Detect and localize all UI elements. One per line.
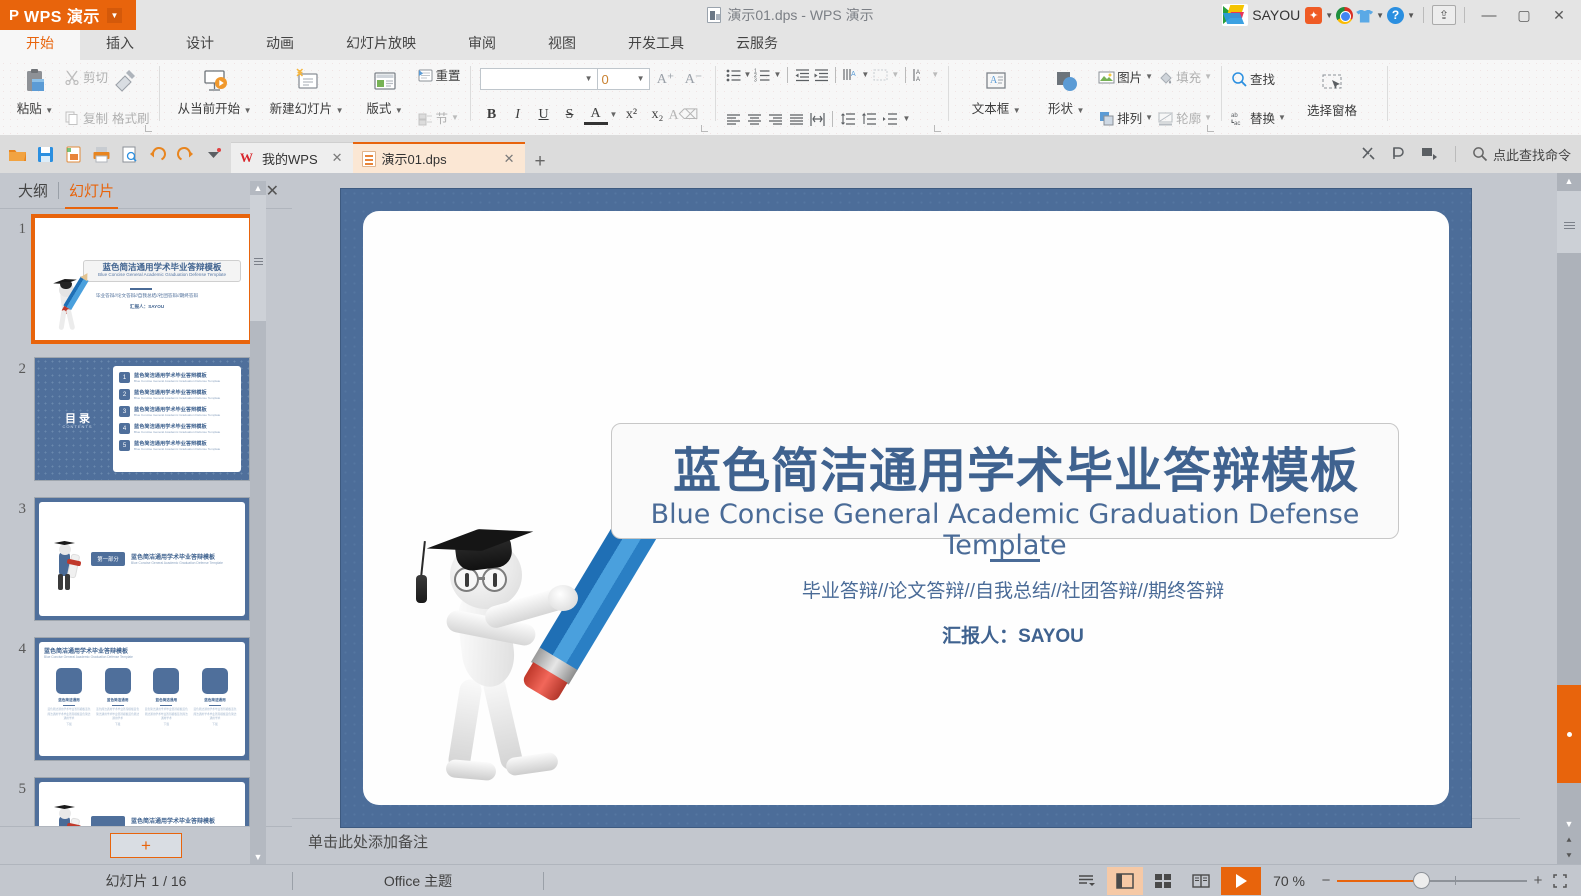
divider <box>1464 7 1465 23</box>
wps-logo-icon: P <box>9 8 19 23</box>
shapes-icon <box>1052 67 1080 95</box>
editing-small-buttons: 查找 abac 替换 ▼ <box>1231 63 1286 135</box>
indent-settings-icon[interactable] <box>882 111 898 127</box>
document-tab-my-wps[interactable]: W 我的WPS ✕ <box>231 142 353 173</box>
document-tab-label: 演示01.dps <box>382 149 447 168</box>
increase-indent-icon[interactable] <box>813 67 829 83</box>
right-scroll-area: ▲ ▼ ⯅ ⯆ <box>1520 173 1581 864</box>
from-current-slide-button[interactable]: 从当前开始 ▼ <box>169 63 261 135</box>
shapes-button[interactable]: 形状 ▼ <box>1034 63 1098 135</box>
layout-label: 版式 ▼ <box>366 98 402 117</box>
divider <box>832 111 833 127</box>
reading-view-icon[interactable] <box>1183 867 1219 895</box>
app-brand[interactable]: P WPS 演示 ▼ <box>0 0 136 30</box>
svg-text:A: A <box>916 70 920 76</box>
thumb-title-cn: 蓝色简洁通用学术毕业答辩模板 <box>44 646 128 655</box>
reset-button[interactable]: 重置 <box>417 65 461 84</box>
text-box-button[interactable]: A 文本框 ▼ <box>958 63 1034 135</box>
pen-icon[interactable] <box>1390 145 1409 164</box>
new-tab-button[interactable]: + <box>525 151 556 173</box>
divider <box>715 66 716 121</box>
close-tab-icon[interactable]: ✕ <box>504 151 515 167</box>
svg-text:A: A <box>916 77 920 83</box>
add-slide-button[interactable]: + <box>110 833 182 858</box>
underline-button[interactable]: U <box>532 103 556 127</box>
new-slide-icon <box>293 67 321 95</box>
reset-label: 重置 <box>436 65 461 84</box>
thumb-toc-heading-en: CONTENTS <box>55 424 100 429</box>
ribbon-toolbar: 粘贴 ▼ 剪切 <box>0 60 1581 135</box>
thumbnail-scrollbar[interactable]: ▲ ▼ <box>250 181 266 864</box>
picture-icon <box>1098 69 1114 85</box>
slide-canvas[interactable]: 蓝色简洁通用学术毕业答辩模板 Blue Concise General Acad… <box>363 211 1449 805</box>
account-name[interactable]: SAYOU <box>1252 7 1300 23</box>
fit-to-window-icon[interactable] <box>1549 870 1571 892</box>
theme-name: Office 主题 <box>293 871 543 891</box>
fill-icon <box>1157 69 1173 85</box>
drawing-dialog-launcher[interactable] <box>1207 125 1214 132</box>
ribbon-group-slides: 从当前开始 ▼ 新建幻灯片 ▼ <box>163 60 467 135</box>
reset-icon <box>417 67 433 83</box>
thumbnail-item[interactable]: 1 蓝色简洁通用学术毕业答辩模板 Blue Concise General Ac… <box>0 217 292 357</box>
customize-quick-access-icon[interactable] <box>204 145 223 164</box>
indent-chevron-down-icon[interactable]: ▼ <box>903 115 911 123</box>
thumbnail-item[interactable]: 2 目 录 CONTENTS 1蓝色简洁通用学术毕业答辩模板Blue Conci… <box>0 357 292 497</box>
selection-pane-button[interactable]: 选择窗格 <box>1286 63 1378 135</box>
drawing-small-buttons: 图片 ▼ 填充 ▼ 排列 ▼ <box>1098 63 1212 135</box>
arrange-label: 排列 <box>1117 108 1142 127</box>
paragraph-dialog-launcher[interactable] <box>934 125 941 132</box>
shirt-icon[interactable] <box>1356 8 1373 23</box>
divider <box>470 66 471 121</box>
picture-button[interactable]: 图片 ▼ <box>1098 67 1153 86</box>
divider <box>1455 146 1456 162</box>
cut-label: 剪切 <box>83 67 108 86</box>
thumbnail-slide-4[interactable]: 蓝色简洁通用学术毕业答辩模板 Blue Concise General Acad… <box>34 637 250 761</box>
panel-footer: + <box>0 826 292 864</box>
slide-title-cn[interactable]: 蓝色简洁通用学术毕业答辩模板 <box>641 431 1391 501</box>
chrome-icon[interactable] <box>1336 7 1353 24</box>
from-current-slide-label: 从当前开始 ▼ <box>178 98 252 117</box>
shapes-label: 形状 ▼ <box>1048 98 1084 117</box>
replace-icon: abac <box>1231 110 1247 126</box>
quick-access-toolbar <box>0 145 223 164</box>
title-bar: P WPS 演示 ▼ 演示01.dps - WPS 演示 SAYOU ✦ ▼ ▼… <box>0 0 1581 30</box>
wps-cloud-icon: W <box>240 151 256 165</box>
arrange-button[interactable]: 排列 ▼ <box>1098 108 1153 127</box>
divider <box>543 872 544 890</box>
align-text-icon[interactable] <box>872 67 888 83</box>
flame-icon[interactable]: ✦ <box>1305 7 1322 24</box>
ribbon-tab-developer[interactable]: 开发工具 <box>602 28 710 60</box>
divider <box>159 66 160 121</box>
outline-button[interactable]: 轮廓 ▼ <box>1157 108 1212 127</box>
print-icon[interactable] <box>92 145 111 164</box>
outline-label: 轮廓 <box>1176 108 1201 127</box>
ribbon-tab-review[interactable]: 审阅 <box>442 28 522 60</box>
app-brand-label: WPS 演示 <box>24 3 100 27</box>
zoom-in-button[interactable]: + <box>1529 872 1547 889</box>
ribbon-group-editing: 查找 abac 替换 ▼ 选择窗格 <box>1225 60 1384 135</box>
clipboard-dialog-launcher[interactable] <box>145 125 152 132</box>
thumbnail-number: 3 <box>12 497 34 518</box>
arrange-icon <box>1098 110 1114 126</box>
tools-icon[interactable] <box>1360 145 1379 164</box>
selection-pane-icon <box>1318 69 1346 97</box>
thumbnail-slide-2[interactable]: 目 录 CONTENTS 1蓝色简洁通用学术毕业答辩模板Blue Concise… <box>34 357 250 481</box>
slide-stage[interactable]: 蓝色简洁通用学术毕业答辩模板 Blue Concise General Acad… <box>292 173 1520 818</box>
window-icon[interactable] <box>1420 145 1439 164</box>
divider <box>835 67 836 83</box>
superscript-button[interactable]: x² <box>619 103 643 127</box>
thumb-title-en: Blue Concise General Academic Graduation… <box>44 655 133 659</box>
slide-counter: 幻灯片 1 / 16 <box>0 871 292 891</box>
grow-font-button[interactable]: A⁺ <box>654 67 678 91</box>
svg-text:A: A <box>851 71 856 78</box>
paragraph-spacing-icon[interactable] <box>861 111 877 127</box>
status-bar: 幻灯片 1 / 16 Office 主题 70 % − + <box>0 864 1581 896</box>
copy-button[interactable]: 复制 <box>64 108 108 127</box>
divider <box>905 67 906 83</box>
strikethrough-button[interactable]: S <box>558 103 582 127</box>
save-icon[interactable] <box>36 145 55 164</box>
next-slide-icon[interactable]: ⯆ <box>1565 848 1572 864</box>
thumbnail-number: 1 <box>12 217 34 238</box>
slide-thumbnail-panel: 大纲 幻灯片 ✕ 1 蓝色简洁通用学术毕业答辩模板 Blue Concise G… <box>0 173 292 864</box>
open-icon[interactable] <box>8 145 27 164</box>
scroll-up-icon[interactable]: ▲ <box>1565 173 1574 189</box>
text-direction-chevron-down-icon[interactable]: ▼ <box>861 71 869 79</box>
scrollbar-thumb[interactable] <box>1557 191 1581 253</box>
thumbnail-slide-3[interactable]: 第一部分 蓝色简洁通用学术毕业答辩模板 Blue Concise General… <box>34 497 250 621</box>
text-box-icon: A <box>982 67 1010 95</box>
dps-file-icon <box>362 151 376 167</box>
skin-chevron-down-icon[interactable]: ▼ <box>1376 11 1384 20</box>
find-command-button[interactable]: 点此查找命令 <box>1472 145 1571 164</box>
layout-button[interactable]: 版式 ▼ <box>353 63 417 135</box>
font-size-value: 0 <box>602 72 609 87</box>
workspace: 大纲 幻灯片 ✕ 1 蓝色简洁通用学术毕业答辩模板 Blue Concise G… <box>0 173 1581 864</box>
ribbon-group-font: ▼ 0 ▼ A⁺ A⁻ B I U S A ▼ x² <box>474 60 712 135</box>
thumbnail-number: 2 <box>12 357 34 378</box>
slide-sorter-icon[interactable] <box>1145 867 1181 895</box>
text-box-label: 文本框 ▼ <box>972 98 1021 117</box>
ribbon-tab-home[interactable]: 开始 <box>0 28 80 60</box>
smartart-chevron-down-icon[interactable]: ▼ <box>931 71 939 79</box>
cut-button[interactable]: 剪切 <box>64 67 108 86</box>
align-right-icon[interactable] <box>767 111 783 127</box>
panel-tab-slides[interactable]: 幻灯片 <box>59 180 124 201</box>
find-label: 查找 <box>1250 69 1275 88</box>
thumb-section-badge: 第一部分 <box>91 552 125 566</box>
font-name-input[interactable]: ▼ <box>480 68 598 90</box>
slide-presenter[interactable]: 汇报人：SAYOU <box>663 621 1363 648</box>
panel-header: 大纲 幻灯片 ✕ <box>0 173 292 209</box>
replace-label: 替换 <box>1250 108 1275 127</box>
ribbon-group-drawing: A 文本框 ▼ 形状 ▼ 图片 ▼ <box>952 60 1218 135</box>
find-button[interactable]: 查找 <box>1231 69 1275 88</box>
ribbon-group-clipboard: 粘贴 ▼ 剪切 <box>0 60 156 135</box>
paste-label: 粘贴 ▼ <box>17 98 53 117</box>
section-label: 节 <box>436 108 449 127</box>
clear-formatting-button[interactable]: A⌫ <box>671 103 695 127</box>
zoom-level: 70 % <box>1263 873 1315 889</box>
divider <box>787 67 788 83</box>
divider <box>1423 7 1424 23</box>
document-tab-bar: W 我的WPS ✕ 演示01.dps ✕ + <box>231 135 556 173</box>
slides-small-buttons: 重置 节 ▼ <box>417 63 461 135</box>
quick-access-and-document-tabs: W 我的WPS ✕ 演示01.dps ✕ + 点此查找命令 <box>0 135 1581 173</box>
minimize-button[interactable]: — <box>1473 1 1505 29</box>
document-title: 演示01.dps - WPS 演示 <box>727 5 873 25</box>
title-divider <box>990 559 1040 562</box>
brand-chevron-down-icon[interactable]: ▼ <box>107 8 122 23</box>
scroll-down-icon[interactable]: ▼ <box>1565 816 1574 832</box>
help-chevron-down-icon[interactable]: ▼ <box>1407 11 1415 20</box>
slide-editor-area: 蓝色简洁通用学术毕业答辩模板 Blue Concise General Acad… <box>292 173 1520 864</box>
thumb-title-cn: 蓝色简洁通用学术毕业答辩模板 <box>131 552 241 561</box>
search-icon <box>1231 71 1247 87</box>
fill-label: 填充 <box>1176 67 1201 86</box>
close-button[interactable]: ✕ <box>1543 1 1575 29</box>
wps-presentation-window: P WPS 演示 ▼ 演示01.dps - WPS 演示 SAYOU ✦ ▼ ▼… <box>0 0 1581 896</box>
selection-pane-label: 选择窗格 <box>1307 100 1357 119</box>
panel-tab-outline[interactable]: 大纲 <box>8 180 58 201</box>
section-icon <box>417 110 433 126</box>
document-tab-presentation[interactable]: 演示01.dps ✕ <box>353 142 525 173</box>
help-icon[interactable]: ? <box>1387 7 1404 24</box>
thumbnail-slide-5[interactable]: 蓝色简洁通用学术毕业答辩模板 <box>34 777 250 826</box>
account-chevron-down-icon[interactable]: ▼ <box>1325 11 1333 20</box>
zoom-slider[interactable] <box>1337 872 1527 890</box>
svg-text:ab: ab <box>1231 113 1238 119</box>
redo-icon[interactable] <box>176 145 195 164</box>
paste-icon <box>21 67 49 95</box>
slide-title-en[interactable]: Blue Concise General Academic Graduation… <box>611 499 1399 561</box>
svg-text:ac: ac <box>1234 121 1240 127</box>
svg-text:3: 3 <box>754 78 757 84</box>
slide-subtitle[interactable]: 毕业答辩//论文答辩//自我总结//社团答辩//期终答辩 <box>663 576 1363 603</box>
bold-button[interactable]: B <box>480 103 504 127</box>
ribbon-tab-bar: 开始 插入 设计 动画 幻灯片放映 审阅 视图 开发工具 云服务 <box>0 30 1581 60</box>
print-preview-icon[interactable] <box>120 145 139 164</box>
ribbon-tab-view[interactable]: 视图 <box>522 28 602 60</box>
thumb-mascot <box>51 802 85 826</box>
decrease-indent-icon[interactable] <box>794 67 810 83</box>
align-left-icon[interactable] <box>725 111 741 127</box>
font-color-chevron-down-icon[interactable]: ▼ <box>610 111 618 119</box>
close-tab-icon[interactable]: ✕ <box>332 150 343 166</box>
font-color-button[interactable]: A <box>584 105 608 125</box>
find-command-label: 点此查找命令 <box>1493 145 1571 164</box>
bullet-list-chevron-down-icon[interactable]: ▼ <box>744 71 752 79</box>
fill-button[interactable]: 填充 ▼ <box>1157 67 1212 86</box>
ribbon-group-paragraph: ▼ 123 ▼ A ▼ ▼ AA ▼ <box>719 60 946 135</box>
thumb-mascot <box>51 538 85 588</box>
thumbnail-slide-1[interactable]: 蓝色简洁通用学术毕业答辩模板 Blue Concise General Acad… <box>34 217 250 341</box>
thumbnail-list[interactable]: 1 蓝色简洁通用学术毕业答辩模板 Blue Concise General Ac… <box>0 209 292 826</box>
paragraph-controls: ▼ 123 ▼ A ▼ ▼ AA ▼ <box>725 63 940 135</box>
convert-smartart-icon[interactable]: AA <box>912 67 928 83</box>
scroll-down-icon[interactable]: ▼ <box>250 850 266 864</box>
divider <box>1387 66 1388 121</box>
section-button[interactable]: 节 ▼ <box>417 108 459 127</box>
justify-icon[interactable] <box>788 111 804 127</box>
font-controls: ▼ 0 ▼ A⁺ A⁻ B I U S A ▼ x² <box>480 63 706 135</box>
thumbnail-number: 4 <box>12 637 34 658</box>
distribute-text-icon[interactable] <box>809 111 825 127</box>
thumbnail-item[interactable]: 3 第一部分 蓝 <box>0 497 292 637</box>
italic-button[interactable]: I <box>506 103 530 127</box>
layout-icon <box>371 67 399 95</box>
maximize-button[interactable]: ▢ <box>1508 1 1540 29</box>
quickbar-right-controls: 点此查找命令 <box>1360 145 1581 164</box>
zoom-slider-handle[interactable] <box>1413 872 1430 889</box>
ribbon-tab-design[interactable]: 设计 <box>160 28 240 60</box>
text-direction-icon[interactable]: A <box>842 67 858 83</box>
divider <box>1221 66 1222 121</box>
picture-label: 图片 <box>1117 67 1142 86</box>
ribbon-tab-insert[interactable]: 插入 <box>80 28 160 60</box>
align-center-icon[interactable] <box>746 111 762 127</box>
font-dialog-launcher[interactable] <box>701 125 708 132</box>
ribbon-tab-animation[interactable]: 动画 <box>240 28 320 60</box>
thumb-mascot <box>49 270 95 332</box>
title-bar-right-controls: SAYOU ✦ ▼ ▼ ? ▼ ⇪ — ▢ ✕ <box>1222 0 1581 30</box>
scroll-up-icon[interactable]: ▲ <box>250 181 266 195</box>
current-slide[interactable]: 蓝色简洁通用学术毕业答辩模板 Blue Concise General Acad… <box>341 189 1471 827</box>
new-slide-label: 新建幻灯片 ▼ <box>270 98 344 117</box>
subscript-button[interactable]: x₂ <box>645 103 669 127</box>
outline-icon <box>1157 110 1173 126</box>
align-text-chevron-down-icon[interactable]: ▼ <box>891 71 899 79</box>
upload-icon[interactable]: ⇪ <box>1432 5 1456 25</box>
ribbon-tab-cloud[interactable]: 云服务 <box>710 28 804 60</box>
format-painter-icon[interactable] <box>112 69 128 85</box>
svg-text:A: A <box>990 75 998 86</box>
start-slideshow-button[interactable] <box>1221 867 1261 895</box>
notes-view-icon[interactable] <box>1069 867 1105 895</box>
numbered-list-chevron-down-icon[interactable]: ▼ <box>773 71 781 79</box>
paste-button[interactable]: 粘贴 ▼ <box>6 63 64 135</box>
ribbon-tab-slideshow[interactable]: 幻灯片放映 <box>320 28 442 60</box>
status-bar-right: 70 % − + <box>1069 867 1581 895</box>
start-slideshow-icon <box>201 67 229 95</box>
thumbnail-number: 5 <box>12 777 34 798</box>
font-size-input[interactable]: 0 ▼ <box>598 68 650 90</box>
save-as-icon[interactable] <box>64 145 83 164</box>
scissors-icon <box>64 69 80 85</box>
search-icon <box>1472 146 1488 162</box>
replace-button[interactable]: abac 替换 ▼ <box>1231 108 1286 127</box>
normal-view-icon[interactable] <box>1107 867 1143 895</box>
scrollbar-thumb[interactable] <box>250 195 266 321</box>
copy-label: 复制 <box>83 108 108 127</box>
thumb-title-en: Blue Concise General Academic Graduation… <box>131 561 241 565</box>
document-tab-label: 我的WPS <box>262 149 318 168</box>
thumb-title-en: Blue Concise General Academic Graduation… <box>85 272 239 277</box>
previous-slide-icon[interactable]: ⯅ <box>1565 832 1572 848</box>
copy-icon <box>64 110 80 126</box>
clipboard-small-buttons: 剪切 复制 格式刷 <box>64 63 150 135</box>
task-pane-toggle[interactable] <box>1557 685 1581 783</box>
numbered-list-icon[interactable]: 123 <box>754 67 770 83</box>
zoom-out-button[interactable]: − <box>1317 872 1335 889</box>
wps-account-logo-icon[interactable] <box>1222 4 1248 26</box>
thumbnail-item[interactable]: 4 蓝色简洁通用学术毕业答辩模板 Blue Concise General Ac… <box>0 637 292 777</box>
undo-icon[interactable] <box>148 145 167 164</box>
dps-file-icon <box>707 7 721 23</box>
new-slide-button[interactable]: 新建幻灯片 ▼ <box>261 63 353 135</box>
thumbnail-item[interactable]: 5 蓝色简洁通用学术毕业答辩模板 <box>0 777 292 826</box>
divider <box>948 66 949 121</box>
line-spacing-icon[interactable] <box>840 111 856 127</box>
shrink-font-button[interactable]: A⁻ <box>682 67 706 91</box>
bullet-list-icon[interactable] <box>725 67 741 83</box>
